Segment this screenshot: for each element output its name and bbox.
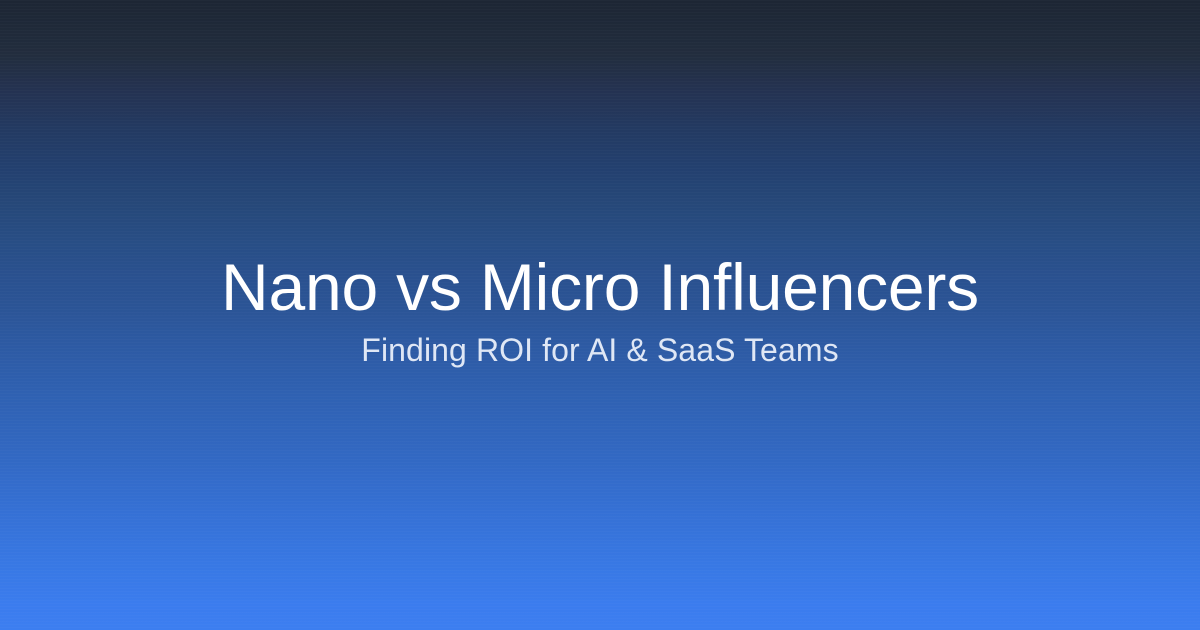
- social-share-banner: Nano vs Micro Influencers Finding ROI fo…: [0, 0, 1200, 630]
- page-title: Nano vs Micro Influencers: [60, 252, 1140, 323]
- banner-text-block: Nano vs Micro Influencers Finding ROI fo…: [0, 252, 1200, 369]
- page-subtitle: Finding ROI for AI & SaaS Teams: [60, 331, 1140, 369]
